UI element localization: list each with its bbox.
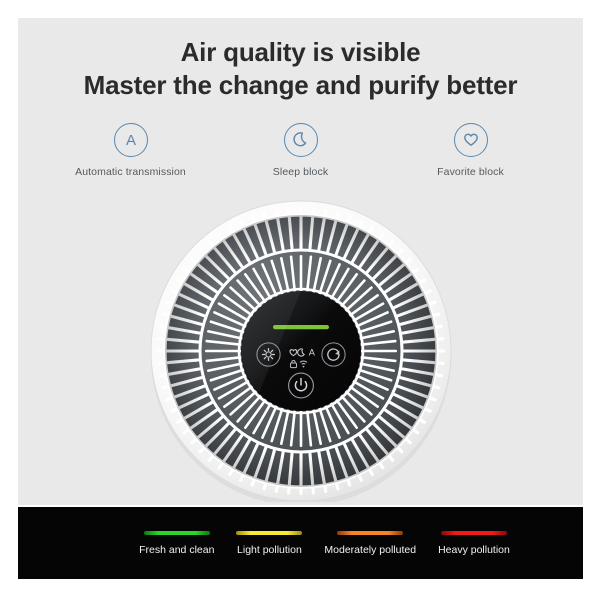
legend-color-swatch: [337, 531, 403, 535]
feature-automatic-transmission[interactable]: A Automatic transmission: [66, 123, 196, 178]
hero-panel: Air quality is visible Master the change…: [18, 18, 583, 505]
air-quality-legend: Fresh and clean Light pollution Moderate…: [18, 507, 583, 579]
legend-color-swatch: [236, 531, 302, 535]
legend-label: Moderately polluted: [324, 544, 416, 556]
legend-label: Light pollution: [237, 544, 302, 556]
auto-mode-icon: A: [114, 123, 148, 157]
feature-label: Favorite block: [437, 166, 504, 178]
legend-item-moderately-polluted: Moderately polluted: [324, 531, 416, 556]
svg-text:A: A: [125, 132, 135, 149]
feature-label: Sleep block: [273, 166, 328, 178]
legend-color-swatch: [441, 531, 507, 535]
legend-color-swatch: [144, 531, 210, 535]
feature-label: Automatic transmission: [75, 166, 186, 178]
legend-item-fresh-and-clean: Fresh and clean: [139, 531, 214, 556]
heart-icon: [454, 123, 488, 157]
legend-item-light-pollution: Light pollution: [236, 531, 302, 556]
legend-label: Fresh and clean: [139, 544, 214, 556]
product-banner: Air quality is visible Master the change…: [0, 0, 600, 600]
feature-favorite-block[interactable]: Favorite block: [406, 123, 536, 178]
auto-indicator-icon: A: [308, 348, 315, 358]
feature-sleep-block[interactable]: Sleep block: [236, 123, 366, 178]
air-purifier: A: [150, 200, 452, 502]
feature-list: A Automatic transmission Sleep block: [18, 123, 583, 178]
page-title: Air quality is visible Master the change…: [18, 36, 583, 102]
headline-line-1: Air quality is visible: [18, 36, 583, 69]
legend-label: Heavy pollution: [438, 544, 510, 556]
legend-item-heavy-pollution: Heavy pollution: [438, 531, 510, 556]
headline-line-2: Master the change and purify better: [18, 69, 583, 102]
moon-icon: [284, 123, 318, 157]
